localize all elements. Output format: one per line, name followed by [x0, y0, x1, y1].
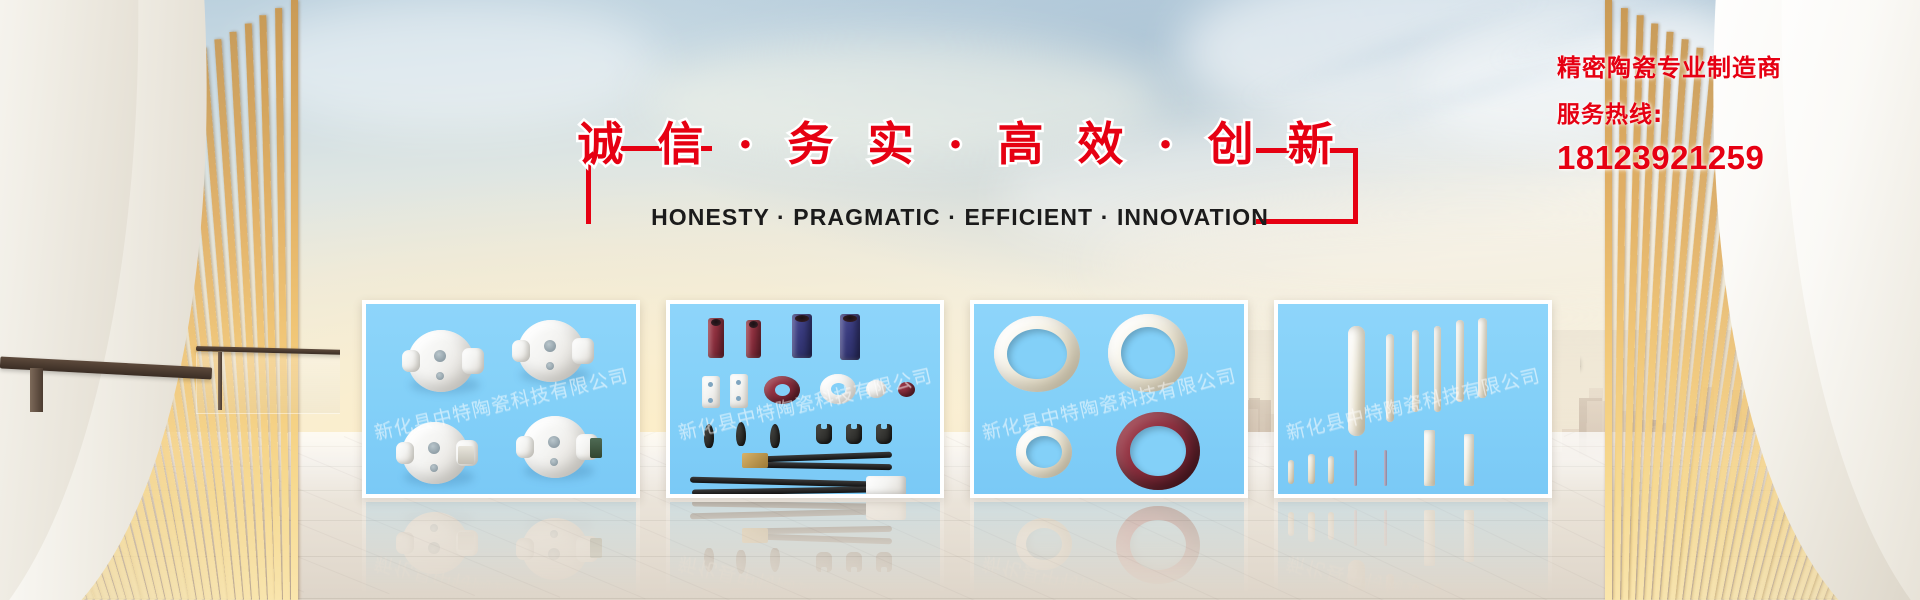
lamp-holder-4 [516, 512, 600, 582]
ceramic-bar-2 [1464, 434, 1474, 486]
connector-notch-1 [821, 423, 827, 429]
holder-contact-block [590, 438, 602, 458]
maroon-ring-bore [775, 384, 790, 396]
ceramic-pin-2 [1308, 512, 1315, 542]
white-ring-bore [831, 383, 846, 395]
holder-lug-left [516, 538, 534, 560]
ceramic-ring-small-bore [1026, 436, 1062, 468]
ceramic-ring-large-2-bore [1121, 327, 1175, 379]
holder-hole-small [436, 372, 444, 380]
holder-lug-left [396, 442, 414, 464]
wire-lead-2 [762, 526, 892, 534]
terminal-1 [704, 548, 714, 572]
maroon-cap [898, 382, 915, 397]
panel-reflection-image: 新化县中特陶瓷科技有限公司 [666, 498, 944, 594]
holder-lug-left [396, 532, 414, 554]
panel-reflection: 新化县中特陶瓷科技有限公司 [362, 498, 640, 594]
panel-reflection-image: 新化县中特陶瓷科技有限公司 [1274, 498, 1552, 594]
ceramic-ring-large-1-bore [1007, 329, 1067, 379]
ceramic-rod-1 [1386, 334, 1394, 422]
connector-notch-2 [851, 567, 857, 573]
ceramic-pin-1 [1288, 512, 1294, 536]
ceramic-bar-2 [1464, 510, 1474, 562]
ceramic-ring-small-bore [1026, 528, 1062, 560]
product-panel-ceramic-tubes-and-terminals[interactable]: 新化县中特陶瓷科技有限公司 [666, 300, 944, 498]
holder-hole-large [428, 442, 440, 454]
ceramic-rod-3 [1434, 584, 1441, 594]
ring-group-ceramic-ring-maroon [1116, 412, 1200, 490]
holder-contact-block [458, 446, 474, 464]
ceramic-rod-thick [1348, 560, 1365, 594]
wire-lead-4 [692, 486, 870, 494]
ring-group-ceramic-ring-small [1016, 518, 1072, 570]
product-stage: 新化县中特陶瓷科技有限公司 [670, 502, 940, 594]
ring-group-ceramic-ring-large-1 [994, 316, 1080, 392]
panel-reflection-inner: 新化县中特陶瓷科技有限公司 [666, 498, 944, 594]
holder-lug-left [402, 350, 420, 372]
lamp-holder-2 [512, 318, 596, 388]
holder-hole-large [548, 436, 560, 448]
ceramic-rod-2 [1412, 330, 1419, 412]
holder-contact-block [590, 538, 602, 558]
connector-notch-3 [881, 567, 887, 573]
ceramic-plate-2 [730, 588, 748, 594]
ceramic-rod-3 [1434, 326, 1441, 412]
wire-lead-4 [692, 502, 870, 510]
product-panel-ceramic-rings[interactable]: 新化县中特陶瓷科技有限公司 [970, 300, 1248, 498]
connector-notch-3 [881, 423, 887, 429]
ceramic-thin-pin-2 [1384, 510, 1387, 546]
terminal-3 [770, 548, 780, 572]
ring-group-ceramic-ring-maroon [1116, 506, 1200, 584]
ring-group-ceramic-ring-large-2 [1108, 314, 1188, 392]
tube-bore-2 [749, 321, 758, 328]
panel-reflection-image: 新化县中特陶瓷科技有限公司 [970, 498, 1248, 594]
ceramic-rod-thick [1348, 326, 1365, 436]
ceramic-rod-2 [1412, 584, 1419, 594]
lamp-holder-3 [396, 506, 480, 576]
plate-hole-1 [708, 382, 713, 387]
ceramic-pin-3 [1328, 456, 1334, 484]
ceramic-rod-4 [1456, 320, 1464, 402]
wire-connector-assembly [690, 476, 910, 494]
panel-reflection: 新化县中特陶瓷科技有限公司 [1274, 498, 1552, 594]
holder-hole-large [434, 350, 446, 362]
panel-reflection-inner: 新化县中特陶瓷科技有限公司 [970, 498, 1248, 594]
tube-bore-3 [795, 315, 809, 322]
ceramic-rod-1 [1386, 574, 1394, 594]
wire-lead-2 [762, 462, 892, 470]
ceramic-ring-maroon-bore [1130, 426, 1186, 476]
wire-lead-1 [760, 452, 892, 463]
white-ring [820, 592, 856, 594]
connector-notch-2 [851, 423, 857, 429]
promo-banner: 诚 信 · 务 实 · 高 效 · 创 新 HONESTY · PRAGMATI… [0, 0, 1920, 600]
ceramic-thin-pin-1 [1354, 450, 1357, 486]
ceramic-bar-1 [1424, 430, 1435, 486]
lamp-holder-4 [516, 414, 600, 484]
plate-hole-1b [708, 398, 713, 403]
lamp-holder-3 [396, 420, 480, 490]
product-stage: 新化县中特陶瓷科技有限公司 [670, 304, 940, 494]
panel-reflection: 新化县中特陶瓷科技有限公司 [666, 498, 944, 594]
lamp-holder-1 [402, 328, 486, 398]
holder-contact-block [458, 532, 474, 550]
holder-hole-large [548, 548, 560, 560]
holder-hole-large [544, 340, 556, 352]
ceramic-rod-5 [1478, 318, 1487, 398]
product-stage: 新化县中特陶瓷科技有限公司 [1278, 304, 1548, 494]
ceramic-thin-pin-2 [1384, 450, 1387, 486]
holder-hole-small [430, 464, 438, 472]
ceramic-bar-1 [1424, 510, 1435, 566]
terminal-1 [704, 424, 714, 448]
panel-reflection-image: 新化县中特陶瓷科技有限公司 [362, 498, 640, 594]
wire-harness [742, 524, 902, 544]
holder-hole-small [550, 530, 558, 538]
product-panel-ceramic-lamp-holders[interactable]: 新化县中特陶瓷科技有限公司 [362, 300, 640, 498]
product-stage: 新化县中特陶瓷科技有限公司 [974, 304, 1244, 494]
holder-hole-large [428, 542, 440, 554]
plate-hole-2b [736, 396, 741, 401]
holder-lug-left [512, 340, 530, 362]
connector-notch-1 [821, 567, 827, 573]
plate-hole-2 [736, 380, 741, 385]
panel-reflection-inner: 新化县中特陶瓷科技有限公司 [362, 498, 640, 594]
wire-metal-clip [742, 453, 768, 468]
panel-reflection: 新化县中特陶瓷科技有限公司 [970, 498, 1248, 594]
white-cap [866, 380, 886, 398]
plate-hole-1b [708, 593, 713, 594]
product-stage: 新化县中特陶瓷科技有限公司 [1278, 502, 1548, 594]
maroon-ring [764, 592, 800, 594]
product-panel-ceramic-rods[interactable]: 新化县中特陶瓷科技有限公司 [1274, 300, 1552, 498]
ring-group-ceramic-ring-small [1016, 426, 1072, 478]
product-stage: 新化县中特陶瓷科技有限公司 [974, 502, 1244, 594]
ceramic-plate-1 [702, 376, 720, 408]
product-stage: 新化县中特陶瓷科技有限公司 [366, 304, 636, 494]
ceramic-thin-pin-1 [1354, 510, 1357, 546]
holder-hole-small [546, 362, 554, 370]
wire-lead-1 [760, 534, 892, 545]
ceramic-ring-maroon-bore [1130, 520, 1186, 570]
holder-hole-small [430, 524, 438, 532]
panel-reflection-inner: 新化县中特陶瓷科技有限公司 [1274, 498, 1552, 594]
wire-housing [866, 476, 906, 494]
product-stage: 新化县中特陶瓷科技有限公司 [366, 502, 636, 594]
terminal-3 [770, 424, 780, 448]
tube-bore-4 [843, 315, 857, 322]
product-panel-row: 新化县中特陶瓷科技有限公司新化县中特陶瓷科技有限公司新化县中特陶瓷科技有限公司新… [0, 0, 1920, 600]
wire-connector-assembly [690, 502, 910, 520]
terminal-2 [736, 550, 746, 574]
wire-lead-3 [690, 509, 870, 520]
ceramic-pin-3 [1328, 512, 1334, 540]
wire-metal-clip [742, 528, 768, 543]
ceramic-pin-1 [1288, 460, 1294, 484]
ceramic-pin-2 [1308, 454, 1315, 484]
wire-harness [742, 452, 902, 472]
tube-bore-1 [711, 319, 721, 326]
holder-lug-right [462, 348, 484, 374]
wire-lead-3 [690, 477, 870, 488]
holder-hole-small [550, 458, 558, 466]
holder-lug-left [516, 436, 534, 458]
holder-lug-right [572, 338, 594, 364]
wire-housing [866, 502, 906, 520]
terminal-2 [736, 422, 746, 446]
